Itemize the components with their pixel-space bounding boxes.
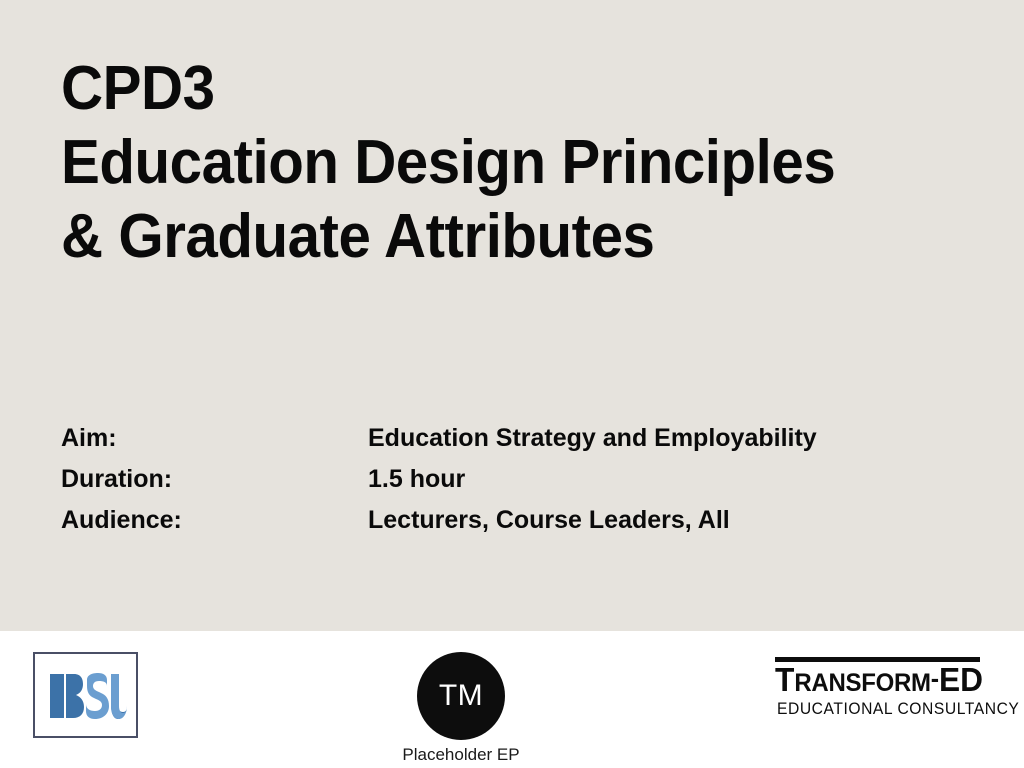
detail-value-aim: Education Strategy and Employability [368,423,817,453]
slide-canvas: CPD3 Education Design Principles & Gradu… [0,0,1024,768]
title-line-1: CPD3 [61,52,907,126]
detail-row-duration: Duration: 1.5 hour [61,464,961,505]
transformed-letters-ed: ED [939,661,983,698]
detail-label-audience: Audience: [61,505,368,535]
placeholder-ep-logo: TM Placeholder EP [388,652,534,764]
transformed-dash: - [931,663,939,693]
transformed-letter-t: T [775,661,794,698]
detail-value-audience: Lecturers, Course Leaders, All [368,505,730,535]
detail-label-aim: Aim: [61,423,368,453]
tm-circle-icon: TM [417,652,505,740]
tm-mark-label: TM [417,652,505,740]
bsu-logo [33,652,138,738]
transformed-letters-ransfor: RANSFOR [794,669,911,697]
title-line-3: & Graduate Attributes [61,200,907,274]
slide-detail-list: Aim: Education Strategy and Employabilit… [61,423,961,546]
placeholder-ep-caption: Placeholder EP [388,745,534,765]
detail-label-duration: Duration: [61,464,368,494]
slide-title: CPD3 Education Design Principles & Gradu… [61,52,961,274]
bsu-logo-icon [48,672,128,720]
title-line-2: Education Design Principles [61,126,907,200]
slide-body-panel: CPD3 Education Design Principles & Gradu… [0,0,1024,631]
detail-value-duration: 1.5 hour [368,464,465,494]
transformed-logo: TRANSFORM-ED EDUCATIONAL CONSULTANCY [772,657,992,737]
transformed-letter-m: M [911,669,931,697]
slide-footer-logos: TM Placeholder EP TRANSFORM-ED EDUCATION… [0,631,1024,768]
transformed-subline: EDUCATIONAL CONSULTANCY [777,699,1019,719]
detail-row-aim: Aim: Education Strategy and Employabilit… [61,423,961,464]
transformed-wordmark: TRANSFORM-ED [775,660,986,703]
detail-row-audience: Audience: Lecturers, Course Leaders, All [61,505,961,546]
